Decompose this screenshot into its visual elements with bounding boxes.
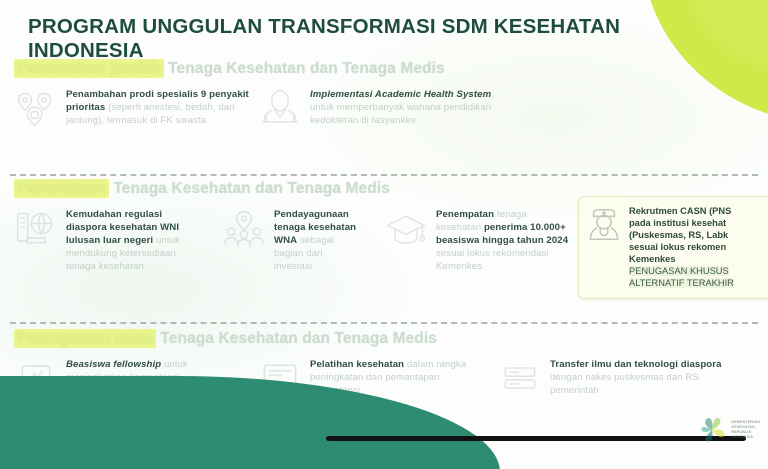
slide-progress-bar[interactable] <box>326 436 746 441</box>
item-5-lead-a: Penempatan <box>436 209 494 220</box>
card-line-3: (Puskesmas, RS, Labk <box>629 230 728 240</box>
item-transfer-ilmu[interactable]: Transfer ilmu dan teknologi diaspora den… <box>498 358 743 400</box>
section-1-rest: Tenaga Kesehatan dan Tenaga Medis <box>168 60 445 77</box>
item-diaspora-regulasi-text: Kemudahan regulasi diaspora kesehatan WN… <box>66 208 199 273</box>
section-divider-1 <box>10 174 758 176</box>
section-3-highlight: Peningkatan mutu <box>14 329 156 348</box>
kemenkes-logo-text: KEMENTERIAN KESEHATAN REPUBLIK INDONESIA <box>731 420 760 441</box>
logo-line-3: REPUBLIK <box>731 430 751 434</box>
item-penambahan-prodi[interactable]: Penambahan prodi spesialis 9 penyakit pr… <box>14 88 249 130</box>
section-2-highlight: Pemerataan <box>14 179 109 198</box>
card-line-1: Rekrutmen CASN (PNS <box>629 206 731 216</box>
graduation-cap-icon <box>384 208 428 250</box>
item-6-lead: Beasiswa fellowship <box>66 359 161 370</box>
section-1-heading: Pemenuhan jumlah Tenaga Kesehatan dan Te… <box>14 60 758 78</box>
section-divider-2 <box>10 322 758 324</box>
item-5-body: sesuai lokus rekomendasi Kemenkes <box>436 248 549 272</box>
page-title: PROGRAM UNGGULAN TRANSFORMASI SDM KESEHA… <box>28 15 678 62</box>
kemenkes-logo: KEMENTERIAN KESEHATAN REPUBLIK INDONESIA <box>697 415 760 445</box>
item-penempatan-beasiswa-text: Penempatan tenaga kesehatan penerima 10.… <box>436 208 569 273</box>
card-rekrutmen-casn[interactable]: Rekrutmen CASN (PNS pada institusi keseh… <box>578 196 768 299</box>
card-rekrutmen-casn-text: Rekrutmen CASN (PNS pada institusi keseh… <box>629 205 734 290</box>
item-penambahan-prodi-text: Penambahan prodi spesialis 9 penyakit pr… <box>66 88 249 127</box>
item-8-body: dengan nakes puskesmas dan RS pemerintah <box>550 372 699 396</box>
section-1-highlight: Pemenuhan jumlah <box>14 59 164 78</box>
item-pendayagunaan-wna-text: Pendayagunaan tenaga kesehatan WNA sebag… <box>274 208 362 273</box>
card-line-2: pada institusi kesehat <box>629 218 726 228</box>
item-transfer-ilmu-text: Transfer ilmu dan teknologi diaspora den… <box>550 358 743 397</box>
section-3-heading: Peningkatan mutu Tenaga Kesehatan dan Te… <box>14 330 758 348</box>
nurse-icon <box>585 205 623 243</box>
globe-building-icon <box>14 208 58 250</box>
logo-line-2: KESEHATAN <box>731 425 755 429</box>
doctor-person-icon <box>258 88 302 130</box>
item-2-body: untuk memperbanyak wahana pendidikan ked… <box>310 102 491 126</box>
section-3-rest: Tenaga Kesehatan dan Tenaga Medis <box>160 330 437 347</box>
card-line-7: ALTERNATIF TERAKHIR <box>629 278 734 288</box>
item-academic-health-system[interactable]: Implementasi Academic Health System untu… <box>258 88 498 130</box>
item-8-lead: Transfer ilmu dan teknologi diaspora <box>550 359 722 370</box>
card-stack-icon <box>498 358 542 400</box>
people-location-icon <box>222 208 266 250</box>
kemenkes-pinwheel-icon <box>697 415 727 445</box>
section-2-rest: Tenaga Kesehatan dan Tenaga Medis <box>113 180 390 197</box>
item-academic-health-system-text: Implementasi Academic Health System untu… <box>310 88 498 127</box>
map-pin-group-icon <box>14 88 58 130</box>
card-line-5: Kemenkes <box>629 254 676 264</box>
item-2-lead-inner: Implementasi Academic Health System <box>310 89 491 100</box>
item-penempatan-beasiswa[interactable]: Penempatan tenaga kesehatan penerima 10.… <box>384 208 569 273</box>
item-diaspora-regulasi[interactable]: Kemudahan regulasi diaspora kesehatan WN… <box>14 208 199 273</box>
logo-line-1: KEMENTERIAN <box>731 420 760 424</box>
item-7-lead: Pelatihan kesehatan <box>310 359 404 370</box>
item-6-lead-inner: Beasiswa fellowship <box>66 359 161 370</box>
item-pendayagunaan-wna[interactable]: Pendayagunaan tenaga kesehatan WNA sebag… <box>222 208 362 273</box>
card-line-6: PENUGASAN KHUSUS <box>629 266 729 276</box>
slide-canvas: PROGRAM UNGGULAN TRANSFORMASI SDM KESEHA… <box>0 0 768 469</box>
card-line-4: sesuai lokus rekomen <box>629 242 726 252</box>
logo-line-4: INDONESIA <box>731 435 753 439</box>
item-2-lead: Implementasi Academic Health System <box>310 89 491 100</box>
